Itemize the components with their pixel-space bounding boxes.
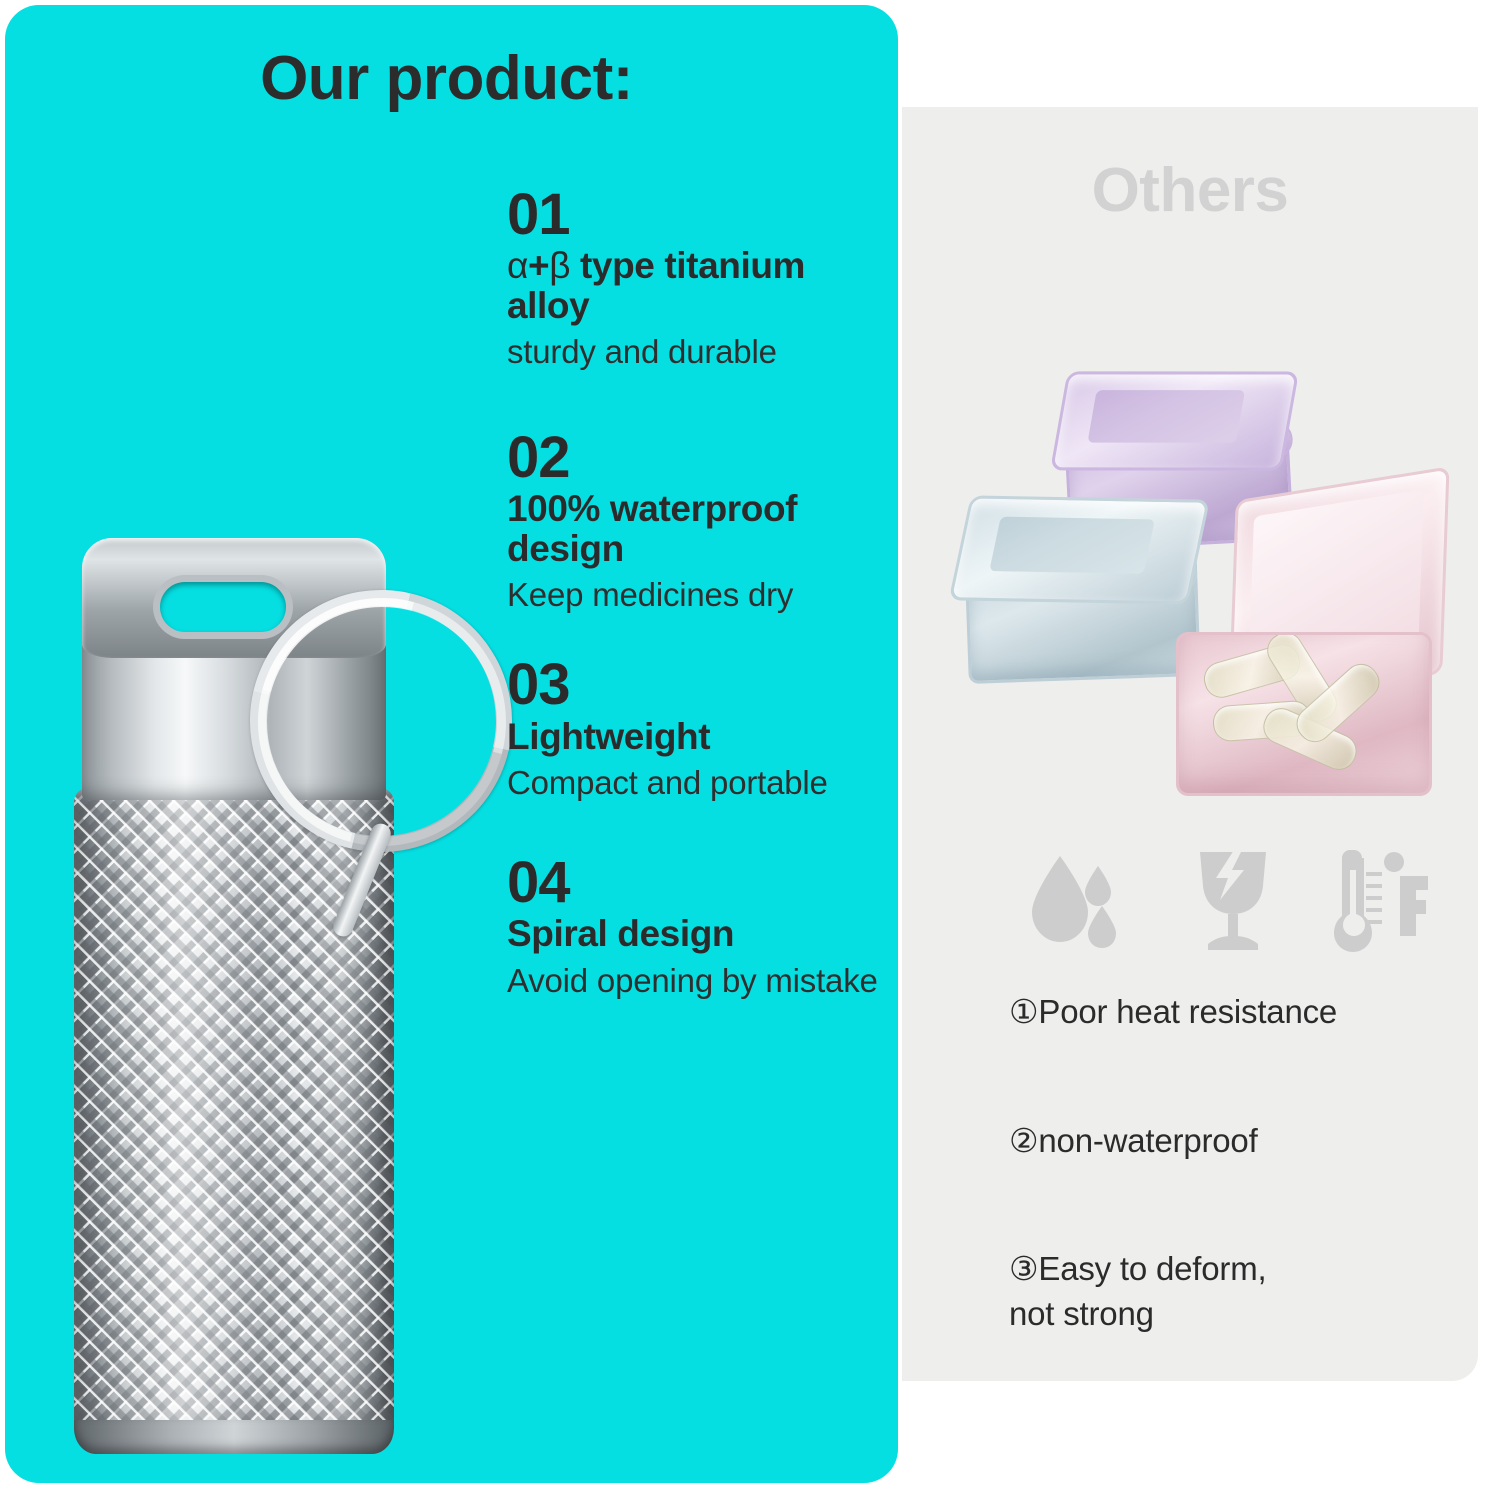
feature-subtitle: Keep medicines dry bbox=[507, 572, 887, 619]
warning-icon-row bbox=[1030, 848, 1430, 953]
feature-heading-alpha: α bbox=[507, 245, 528, 286]
feature-item-04: 04 Spiral design Avoid opening by mistak… bbox=[507, 853, 887, 1005]
feature-heading-plus: + bbox=[528, 245, 549, 286]
water-drops-icon bbox=[1030, 854, 1122, 950]
feature-number: 01 bbox=[507, 185, 887, 244]
box-lid-inner-panel bbox=[1087, 390, 1245, 443]
infographic-stage: Our product: 01 α+β type titanium alloy … bbox=[0, 0, 1500, 1488]
feature-heading: 100% waterproof design bbox=[507, 489, 887, 568]
feature-number: 03 bbox=[507, 655, 887, 714]
drawback-item: ①Poor heat resistance bbox=[1009, 990, 1459, 1035]
feature-heading: α+β type titanium alloy bbox=[507, 246, 887, 325]
feature-heading-beta: β bbox=[549, 245, 570, 286]
knurled-body bbox=[74, 788, 394, 1448]
cap-loop-hole bbox=[160, 582, 286, 632]
thermometer-fahrenheit-icon bbox=[1330, 850, 1430, 952]
blue-pill-box bbox=[956, 490, 1203, 708]
others-title: Others bbox=[902, 160, 1478, 222]
feature-list: 01 α+β type titanium alloy sturdy and du… bbox=[507, 185, 887, 1049]
pink-pill-box-open bbox=[1176, 484, 1440, 796]
capsules-group bbox=[1201, 649, 1381, 769]
others-drawbacks-list: ①Poor heat resistance ②non-waterproof ③E… bbox=[1009, 990, 1459, 1336]
feature-item-02: 02 100% waterproof design Keep medicines… bbox=[507, 428, 887, 619]
drawback-item: ③Easy to deform, not strong bbox=[1009, 1247, 1459, 1336]
plastic-pill-boxes-image bbox=[960, 368, 1440, 798]
feature-heading: Spiral design bbox=[507, 914, 887, 954]
drawback-item: ②non-waterproof bbox=[1009, 1119, 1459, 1164]
box-base bbox=[1176, 632, 1432, 796]
titanium-capsule-product-image bbox=[62, 520, 412, 1450]
feature-number: 02 bbox=[507, 428, 887, 487]
our-product-title: Our product: bbox=[0, 48, 893, 110]
feature-item-01: 01 α+β type titanium alloy sturdy and du… bbox=[507, 185, 887, 376]
feature-subtitle: sturdy and durable bbox=[507, 329, 887, 376]
body-bottom-rim bbox=[74, 1420, 394, 1454]
feature-subtitle: Compact and portable bbox=[507, 760, 887, 807]
feature-heading: Lightweight bbox=[507, 717, 887, 757]
feature-number: 04 bbox=[507, 853, 887, 912]
feature-item-03: 03 Lightweight Compact and portable bbox=[507, 655, 887, 807]
feature-subtitle: Avoid opening by mistake bbox=[507, 958, 887, 1005]
box-lid-inner-panel bbox=[989, 517, 1155, 574]
broken-glass-fragile-icon bbox=[1190, 848, 1276, 952]
